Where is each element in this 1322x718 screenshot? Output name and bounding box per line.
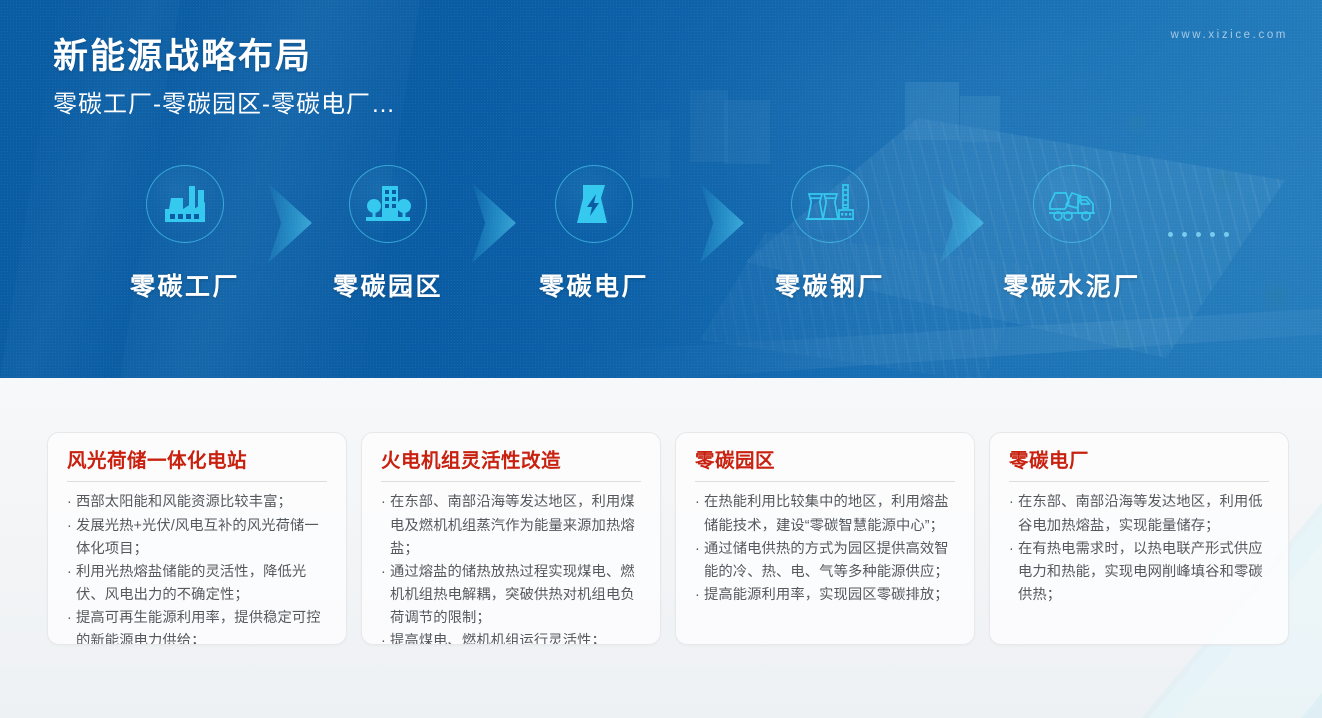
card-divider [381,481,641,482]
page-title: 新能源战略布局 [53,28,312,79]
card-title: 零碳园区 [695,451,955,472]
list-item: 通过熔盐的储热放热过程实现煤电、燃机机组热电解耦，突破供热对机组电负荷调节的限制… [381,561,641,630]
card-grid: 风光荷储一体化电站 西部太阳能和风能资源比较丰富； 发展光热+光伏/风电互补的风… [47,432,1289,645]
card-bullet-list: 在东部、南部沿海等发达地区，利用低谷电加热熔盐，实现能量储存； 在有热电需求时，… [1009,491,1269,607]
info-card-zero-carbon-park[interactable]: 零碳园区 在热能利用比较集中的地区，利用熔盐储能技术，建设“零碳智慧能源中心”；… [675,432,975,645]
factory-icon [163,184,207,224]
list-item: 在热能利用比较集中的地区，利用熔盐储能技术，建设“零碳智慧能源中心”； [695,491,955,537]
hero-banner: www.xizice.com 新能源战略布局 零碳工厂-零碳园区-零碳电厂… [0,0,1322,378]
step-label: 零碳钢厂 [750,267,910,303]
card-bullet-list: 在东部、南部沿海等发达地区，利用煤电及燃机机组蒸汽作为能量来源加热熔盐； 通过熔… [381,491,641,645]
list-item: 发展光热+光伏/风电互补的风光荷储一体化项目； [67,515,327,561]
card-title: 零碳电厂 [1009,451,1269,472]
step-label: 零碳园区 [308,267,468,303]
step-zero-carbon-park[interactable]: 零碳园区 [308,165,468,303]
card-divider [67,481,327,482]
card-title: 风光荷储一体化电站 [67,451,327,472]
list-item: 在东部、南部沿海等发达地区，利用煤电及燃机机组蒸汽作为能量来源加热熔盐； [381,491,641,560]
cooling-tower-bolt-icon [574,183,614,225]
step-zero-carbon-steel-plant[interactable]: 零碳钢厂 [750,165,910,303]
list-item: 通过储电供热的方式为园区提供高效智能的冷、热、电、气等多种能源供应； [695,538,955,584]
step-icon-circle [791,165,869,243]
chevron-arrow-4-icon [940,183,984,263]
office-building-trees-icon [365,183,411,225]
step-zero-carbon-cement-plant[interactable]: 零碳水泥厂 [992,165,1152,303]
info-card-thermal-unit-flexibility[interactable]: 火电机组灵活性改造 在东部、南部沿海等发达地区，利用煤电及燃机机组蒸汽作为能量来… [361,432,661,645]
chevron-arrow-2-icon [472,183,516,263]
dot [1224,232,1229,237]
cement-mixer-truck-icon [1047,185,1097,223]
list-item: 提高煤电、燃机机组运行灵活性； [381,630,641,645]
card-divider [1009,481,1269,482]
step-label: 零碳工厂 [105,267,265,303]
list-item: 西部太阳能和风能资源比较丰富； [67,491,327,514]
list-item: 利用光热熔盐储能的灵活性，降低光伏、风电出力的不确定性； [67,561,327,607]
dot [1196,232,1201,237]
card-bullet-list: 西部太阳能和风能资源比较丰富； 发展光热+光伏/风电互补的风光荷储一体化项目； … [67,491,327,645]
dot [1210,232,1215,237]
step-icon-circle [146,165,224,243]
step-zero-carbon-factory[interactable]: 零碳工厂 [105,165,265,303]
dot [1168,232,1173,237]
list-item: 在有热电需求时，以热电联产形式供应电力和热能，实现电网削峰填谷和零碳供热； [1009,538,1269,607]
dot [1182,232,1187,237]
chevron-arrow-1-icon [268,183,312,263]
card-title: 火电机组灵活性改造 [381,451,641,472]
chevron-arrow-3-icon [700,183,744,263]
step-icon-circle [555,165,633,243]
list-item: 提高能源利用率，实现园区零碳排放； [695,584,955,607]
steel-plant-icon [805,182,855,226]
info-card-wind-solar-storage[interactable]: 风光荷储一体化电站 西部太阳能和风能资源比较丰富； 发展光热+光伏/风电互补的风… [47,432,347,645]
step-label: 零碳电厂 [514,267,674,303]
card-divider [695,481,955,482]
slide-page: www.xizice.com 新能源战略布局 零碳工厂-零碳园区-零碳电厂… [0,0,1322,718]
step-icon-circle [349,165,427,243]
content-section: 风光荷储一体化电站 西部太阳能和风能资源比较丰富； 发展光热+光伏/风电互补的风… [0,378,1322,718]
site-watermark: www.xizice.com [1170,29,1288,41]
info-card-zero-carbon-power-plant[interactable]: 零碳电厂 在东部、南部沿海等发达地区，利用低谷电加热熔盐，实现能量储存； 在有热… [989,432,1289,645]
step-label: 零碳水泥厂 [992,267,1152,303]
step-icon-circle [1033,165,1111,243]
list-item: 提高可再生能源利用率，提供稳定可控的新能源电力供给； [67,607,327,645]
list-item: 在东部、南部沿海等发达地区，利用低谷电加热熔盐，实现能量储存； [1009,491,1269,537]
step-zero-carbon-power-plant[interactable]: 零碳电厂 [514,165,674,303]
process-step-row: 零碳工厂 [0,165,1322,315]
page-subtitle: 零碳工厂-零碳园区-零碳电厂… [53,84,396,119]
card-bullet-list: 在热能利用比较集中的地区，利用熔盐储能技术，建设“零碳智慧能源中心”； 通过储电… [695,491,955,607]
trailing-dots-indicator [1168,232,1229,237]
